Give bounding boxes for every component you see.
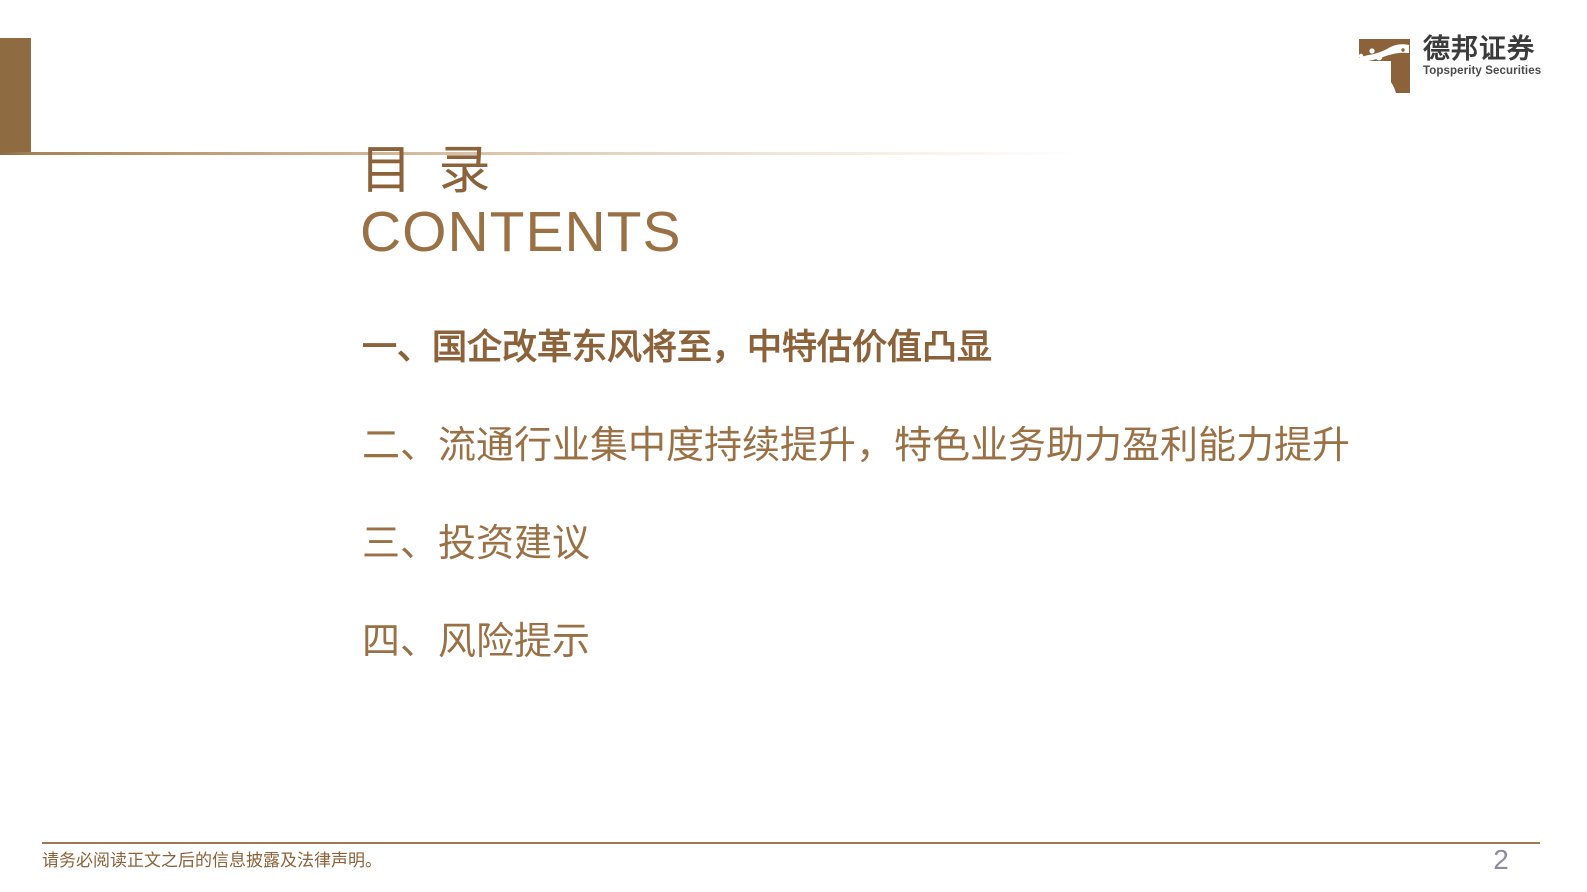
brand-logo: 德邦证券 Topsperity Securities [1343,31,1541,93]
presentation-slide: 德邦证券 Topsperity Securities 目 录 CONTENTS … [0,0,1587,892]
page-number: 2 [1462,843,1540,877]
brand-name-en: Topsperity Securities [1423,65,1541,79]
leopard-logo-icon [1343,31,1410,93]
page-title-cn: 目 录 [360,141,682,201]
brand-name-cn: 德邦证券 [1423,35,1535,64]
agenda-item-2[interactable]: 二、流通行业集中度持续提升，特色业务助力盈利能力提升 [362,420,1542,472]
footer-disclaimer: 请务必阅读正文之后的信息披露及法律声明。 [42,848,382,874]
agenda-item-1[interactable]: 一、国企改革东风将至，中特估价值凸显 [362,322,1542,374]
agenda-list: 一、国企改革东风将至，中特估价值凸显 二、流通行业集中度持续提升，特色业务助力盈… [362,322,1542,714]
page-title-en: CONTENTS [360,201,682,263]
footer-divider-rule [42,842,1540,844]
corner-accent-bar [0,38,31,155]
brand-wordmark: 德邦证券 Topsperity Securities [1423,31,1541,79]
page-title: 目 录 CONTENTS [360,141,682,263]
agenda-item-4[interactable]: 四、风险提示 [362,616,1542,668]
agenda-item-3[interactable]: 三、投资建议 [362,518,1542,570]
